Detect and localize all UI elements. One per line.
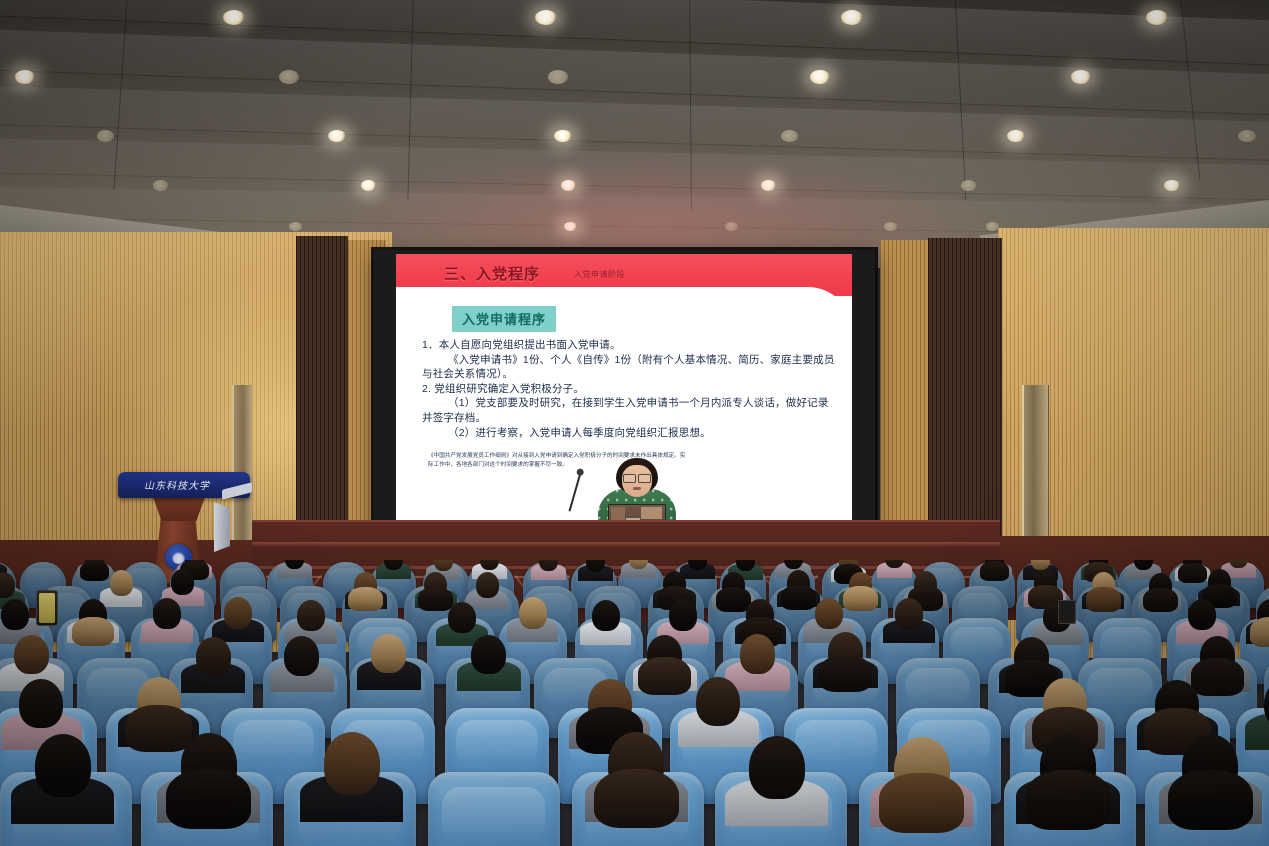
- audience-member-hair: [819, 655, 872, 692]
- wall-dark-column-right: [928, 238, 1002, 568]
- audience-member-head: [196, 637, 231, 676]
- audience-member-head: [629, 560, 648, 569]
- ceiling-downlight: [223, 10, 245, 25]
- audience-member-hair: [1025, 770, 1110, 830]
- audience-seating: [0, 560, 1269, 846]
- slide-body-text: 1．本人自愿向党组织提出书面入党申请。 《入党申请书》1份、个人《自传》1份（附…: [422, 338, 836, 440]
- audience-member-head: [14, 635, 49, 674]
- audience-member-head: [224, 597, 252, 628]
- audience-member-head: [696, 677, 740, 726]
- audience-member-head: [19, 679, 63, 728]
- ceiling-downlight: [153, 180, 168, 191]
- slide-body-line: （1）党支部要及时研究，在接到学生入党申请书一个月内派专人谈话，做好记录并签字存…: [422, 396, 836, 425]
- audience-member-head: [171, 569, 194, 595]
- audience-member-hair: [980, 561, 1009, 581]
- slide-footnote-line: 《中国共产党发展党员工作细则》对从接到入党申请到确定入党积极分子的时间要求未作出…: [428, 452, 828, 461]
- presenter-mouth: [633, 487, 641, 490]
- audience-member-hair: [1191, 658, 1244, 695]
- audience-member-head: [669, 599, 697, 630]
- ceiling-downlight: [1071, 70, 1091, 84]
- audience-member-head: [1, 599, 29, 630]
- audience-member-hair: [1143, 588, 1178, 612]
- audience-member-hair: [348, 587, 383, 611]
- audience-member-head: [1188, 599, 1216, 630]
- audience-member-hair: [72, 617, 115, 647]
- wall-panel-right-inner: [880, 240, 932, 540]
- audience-member-hair: [879, 773, 964, 833]
- mobile-phone[interactable]: [1058, 600, 1076, 624]
- ceiling-downlight: [1164, 180, 1179, 191]
- wall-dark-column-left: [296, 236, 348, 566]
- audience-member-hair: [1086, 587, 1121, 611]
- audience-member-head: [371, 634, 406, 673]
- auditorium-photo: 三、入党程序 入党申请阶段 入党申请程序 1．本人自愿向党组织提出书面入党申请。…: [0, 0, 1269, 846]
- ceiling-downlight: [554, 130, 572, 142]
- audience-member-head: [284, 636, 319, 675]
- slide-footnote-line: 际工作中，各地各部门对这个时间要求的掌握不尽一致。: [428, 461, 828, 470]
- audience-member-hair: [80, 561, 109, 581]
- ceiling-downlight: [810, 70, 830, 84]
- ceiling-downlight: [548, 70, 568, 84]
- slide-body-line: 2. 党组织研究确定入党积极分子。: [422, 382, 836, 397]
- audience-member-head: [324, 732, 380, 795]
- audience-member-hair: [781, 585, 816, 609]
- audience-member-hair: [1178, 563, 1207, 583]
- slide-body-line: 1．本人自愿向党组织提出书面入党申请。: [422, 338, 836, 353]
- slide-title: 三、入党程序: [444, 263, 540, 284]
- audience-member-hair: [843, 586, 878, 610]
- mobile-phone[interactable]: [36, 590, 58, 626]
- glasses-icon: [623, 474, 651, 481]
- audience-member-head: [895, 598, 923, 629]
- ceiling-downlight: [781, 130, 799, 142]
- audience-member-head: [476, 572, 499, 598]
- audience-member-hair: [638, 657, 691, 694]
- ceiling-downlight: [1238, 130, 1256, 142]
- audience-member-head: [153, 598, 181, 629]
- audience-member-hair: [716, 587, 751, 611]
- audience-member-head: [519, 597, 547, 628]
- podium-label: 山东科技大学: [144, 477, 210, 492]
- slide-body-line: （2）进行考察，入党申请人每季度向党组织汇报思想。: [422, 426, 836, 441]
- audience-member-hair: [594, 769, 679, 829]
- podium-side-panel: [214, 502, 230, 552]
- slide-section-heading: 入党申请程序: [452, 306, 556, 332]
- ceiling-downlight: [328, 130, 346, 142]
- audience-member-head: [297, 600, 325, 631]
- ceiling-downlight: [15, 70, 35, 84]
- podium-neck: [148, 497, 210, 521]
- slide-body-line: 《入党申请书》1份、个人《自传》1份（附有个人基本情况、简历、家庭主要成员与社会…: [422, 353, 836, 382]
- ceiling-downlight: [279, 70, 299, 84]
- audience-member-hair: [1250, 617, 1269, 647]
- audience-member-head: [749, 736, 805, 799]
- audience-member-head: [110, 570, 133, 596]
- slide-footnote: 《中国共产党发展党员工作细则》对从接到入党申请到确定入党积极分子的时间要求未作出…: [428, 452, 828, 469]
- audience-member-head: [740, 634, 775, 673]
- audience-member-head: [815, 598, 843, 629]
- audience-member-hair: [166, 769, 251, 829]
- audience-member-hair: [418, 587, 453, 611]
- auditorium-seat[interactable]: [428, 772, 560, 846]
- audience-member-head: [448, 602, 476, 633]
- stage-rail: [252, 542, 1000, 547]
- audience-member-head: [471, 635, 506, 674]
- audience-member-hair: [125, 705, 192, 752]
- ceiling-downlight: [1007, 130, 1025, 142]
- audience-member-head: [35, 734, 91, 797]
- audience-member-head: [592, 600, 620, 631]
- slide-subtitle: 入党申请阶段: [574, 269, 625, 280]
- audience-member-hair: [1168, 770, 1253, 830]
